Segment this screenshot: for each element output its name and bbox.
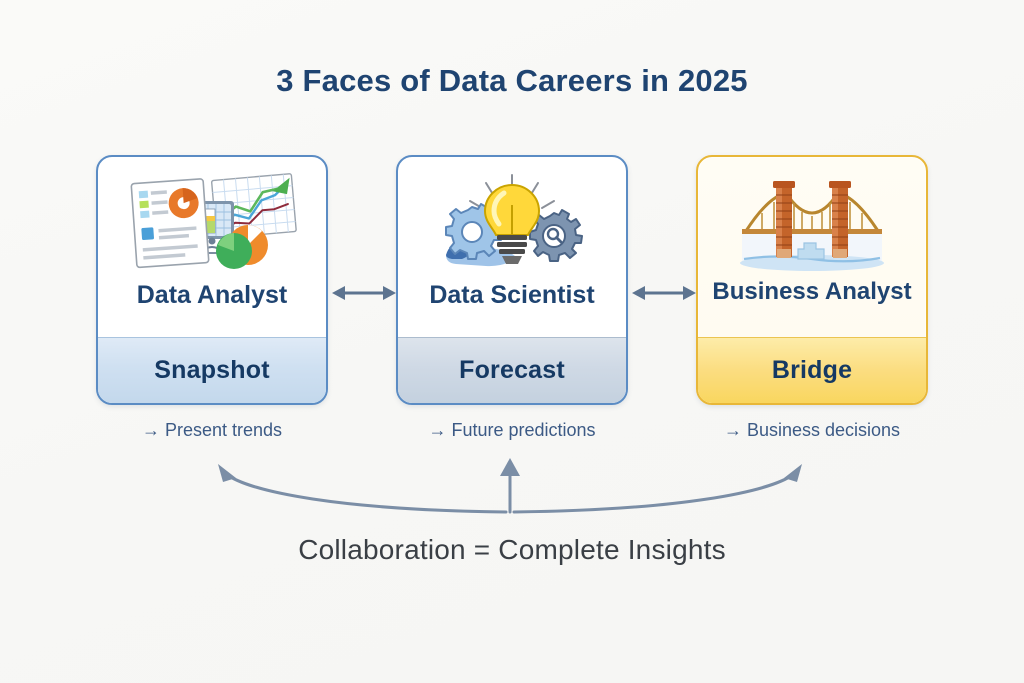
card-role-label: Data Analyst bbox=[112, 281, 312, 309]
card-business-analyst[interactable]: Business Analyst Bridge bbox=[696, 155, 928, 405]
card-data-scientist[interactable]: Data Scientist Forecast bbox=[396, 155, 628, 405]
card-body: Data Analyst bbox=[98, 157, 326, 342]
double-arrow-icon bbox=[630, 278, 698, 308]
card-role-label: Data Scientist bbox=[412, 281, 612, 309]
card-tagline-bridge: Bridge bbox=[698, 337, 926, 403]
card-data-analyst[interactable]: Data Analyst Snapshot bbox=[96, 155, 328, 405]
infographic-canvas: 3 Faces of Data Careers in 2025 bbox=[0, 0, 1024, 683]
card-body: Business Analyst bbox=[698, 157, 926, 342]
card-tagline-forecast: Forecast bbox=[398, 337, 626, 403]
lightbulb-gears-icon bbox=[422, 171, 602, 277]
suspension-bridge-icon bbox=[722, 171, 902, 277]
collaboration-connector-icon bbox=[190, 448, 830, 528]
collaboration-statement: Collaboration = Complete Insights bbox=[0, 534, 1024, 566]
caption-future-predictions: → Future predictions bbox=[382, 420, 642, 441]
caption-present-trends: → Present trends bbox=[82, 420, 342, 441]
report-charts-icon bbox=[122, 171, 302, 277]
page-title: 3 Faces of Data Careers in 2025 bbox=[0, 63, 1024, 99]
card-role-label: Business Analyst bbox=[712, 279, 912, 306]
card-tagline-snapshot: Snapshot bbox=[98, 337, 326, 403]
card-body: Data Scientist bbox=[398, 157, 626, 342]
caption-business-decisions: → Business decisions bbox=[682, 420, 942, 441]
double-arrow-icon bbox=[330, 278, 398, 308]
